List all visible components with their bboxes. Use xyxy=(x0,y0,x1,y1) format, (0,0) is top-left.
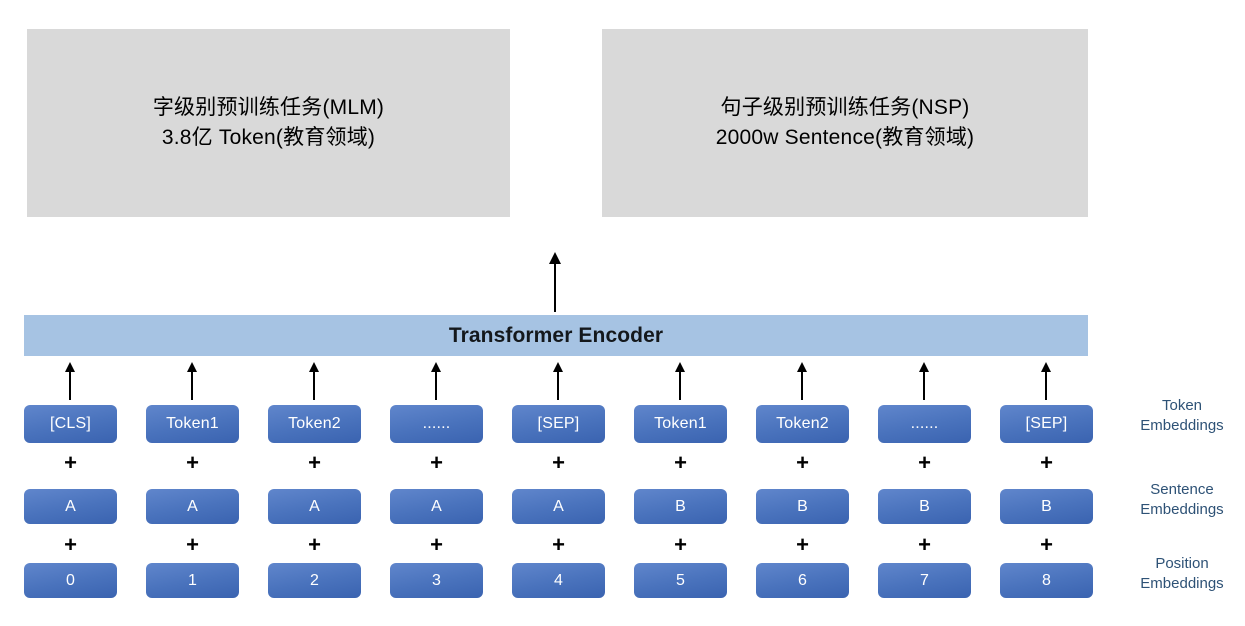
token-embedding-box: [SEP] xyxy=(512,405,605,443)
plus-sign-icon: + xyxy=(512,452,605,474)
task-nsp-line1: 句子级别预训练任务(NSP) xyxy=(721,93,970,123)
arrow-shaft xyxy=(554,258,556,312)
transformer-encoder-bar: Transformer Encoder xyxy=(24,315,1088,356)
row-label-position-embeddings: Position Embeddings xyxy=(1122,554,1242,595)
token-embedding-box: ...... xyxy=(390,405,483,443)
plus-sign-icon: + xyxy=(878,534,971,556)
plus-sign-icon: + xyxy=(390,452,483,474)
position-embedding-box: 4 xyxy=(512,563,605,598)
position-embedding-box: 3 xyxy=(390,563,483,598)
row-label-token-embeddings: Token Embeddings xyxy=(1122,396,1242,437)
plus-sign-icon: + xyxy=(878,452,971,474)
row-label-token-line2: Embeddings xyxy=(1122,416,1242,436)
plus-sign-icon: + xyxy=(24,452,117,474)
plus-sign-icon: + xyxy=(146,534,239,556)
arrow-shaft xyxy=(313,367,315,400)
task-nsp-line2: 2000w Sentence(教育领域) xyxy=(716,123,974,153)
transformer-encoder-label: Transformer Encoder xyxy=(449,324,663,348)
sentence-embedding-box: A xyxy=(24,489,117,524)
plus-sign-icon: + xyxy=(268,534,361,556)
token-embedding-box: ...... xyxy=(878,405,971,443)
position-embedding-box: 7 xyxy=(878,563,971,598)
encoder-output-arrow-icon xyxy=(540,252,570,312)
arrow-shaft xyxy=(1045,367,1047,400)
token-to-encoder-arrow-icon xyxy=(670,362,690,400)
sentence-embedding-box: A xyxy=(390,489,483,524)
row-label-position-line2: Embeddings xyxy=(1122,574,1242,594)
position-embedding-box: 0 xyxy=(24,563,117,598)
token-to-encoder-arrow-icon xyxy=(792,362,812,400)
plus-sign-icon: + xyxy=(756,452,849,474)
token-embedding-box: Token2 xyxy=(268,405,361,443)
token-to-encoder-arrow-icon xyxy=(60,362,80,400)
plus-sign-icon: + xyxy=(634,534,727,556)
position-embedding-box: 1 xyxy=(146,563,239,598)
sentence-embedding-box: B xyxy=(878,489,971,524)
sentence-embedding-box: B xyxy=(1000,489,1093,524)
token-to-encoder-arrow-icon xyxy=(304,362,324,400)
row-label-sentence-line1: Sentence xyxy=(1150,481,1213,498)
plus-sign-icon: + xyxy=(268,452,361,474)
sentence-embedding-box: B xyxy=(634,489,727,524)
position-embedding-box: 8 xyxy=(1000,563,1093,598)
token-embedding-box: Token2 xyxy=(756,405,849,443)
arrow-shaft xyxy=(923,367,925,400)
plus-sign-icon: + xyxy=(512,534,605,556)
token-to-encoder-arrow-icon xyxy=(548,362,568,400)
plus-sign-icon: + xyxy=(390,534,483,556)
arrow-shaft xyxy=(557,367,559,400)
plus-sign-icon: + xyxy=(1000,534,1093,556)
arrow-shaft xyxy=(69,367,71,400)
sentence-embedding-box: A xyxy=(512,489,605,524)
token-embedding-box: [CLS] xyxy=(24,405,117,443)
sentence-embedding-box: B xyxy=(756,489,849,524)
position-embedding-box: 2 xyxy=(268,563,361,598)
arrow-shaft xyxy=(679,367,681,400)
token-embedding-box: [SEP] xyxy=(1000,405,1093,443)
task-mlm-line1: 字级别预训练任务(MLM) xyxy=(153,93,384,123)
token-embedding-box: Token1 xyxy=(634,405,727,443)
token-to-encoder-arrow-icon xyxy=(426,362,446,400)
token-to-encoder-arrow-icon xyxy=(914,362,934,400)
task-mlm-line2: 3.8亿 Token(教育领域) xyxy=(162,123,375,153)
plus-sign-icon: + xyxy=(634,452,727,474)
arrow-shaft xyxy=(435,367,437,400)
pretrain-task-panel-mlm: 字级别预训练任务(MLM) 3.8亿 Token(教育领域) xyxy=(27,29,510,217)
arrow-shaft xyxy=(191,367,193,400)
row-label-position-line1: Position xyxy=(1155,555,1208,572)
token-to-encoder-arrow-icon xyxy=(1036,362,1056,400)
plus-sign-icon: + xyxy=(756,534,849,556)
arrow-shaft xyxy=(801,367,803,400)
position-embedding-box: 5 xyxy=(634,563,727,598)
row-label-sentence-embeddings: Sentence Embeddings xyxy=(1122,480,1242,521)
bert-architecture-diagram: 字级别预训练任务(MLM) 3.8亿 Token(教育领域) 句子级别预训练任务… xyxy=(0,0,1245,626)
pretrain-task-panel-nsp: 句子级别预训练任务(NSP) 2000w Sentence(教育领域) xyxy=(602,29,1088,217)
row-label-sentence-line2: Embeddings xyxy=(1122,500,1242,520)
plus-sign-icon: + xyxy=(146,452,239,474)
position-embedding-box: 6 xyxy=(756,563,849,598)
plus-sign-icon: + xyxy=(24,534,117,556)
token-to-encoder-arrow-icon xyxy=(182,362,202,400)
token-embedding-box: Token1 xyxy=(146,405,239,443)
sentence-embedding-box: A xyxy=(146,489,239,524)
sentence-embedding-box: A xyxy=(268,489,361,524)
plus-sign-icon: + xyxy=(1000,452,1093,474)
row-label-token-line1: Token xyxy=(1162,397,1202,414)
